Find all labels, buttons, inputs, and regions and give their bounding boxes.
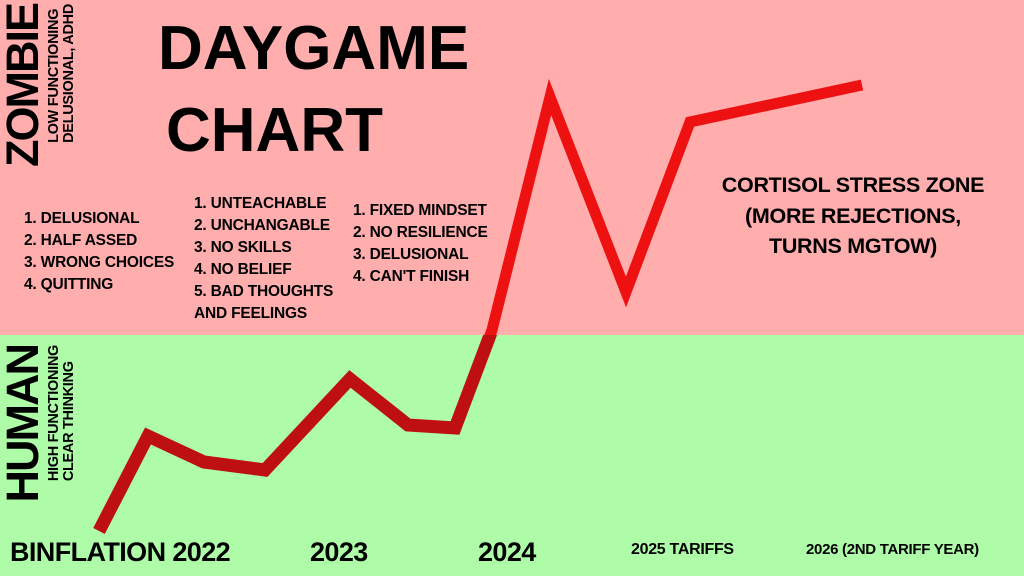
symptom-a-item: 3. WRONG CHOICES <box>24 252 174 274</box>
callout-line-1: CORTISOL STRESS ZONE <box>688 170 1018 201</box>
symptom-c-item: 3. DELUSIONAL <box>353 244 488 266</box>
symptom-list-column-a: 1. DELUSIONAL2. HALF ASSED3. WRONG CHOIC… <box>24 208 174 296</box>
symptom-c-item: 4. CAN'T FINISH <box>353 266 488 288</box>
symptom-b-item: 5. BAD THOUGHTS <box>194 281 333 303</box>
symptom-list-column-b: 1. UNTEACHABLE2. UNCHANGABLE3. NO SKILLS… <box>194 193 333 325</box>
human-sublabel-2: CLEAR THINKING <box>62 345 77 481</box>
symptom-a-item: 4. QUITTING <box>24 274 174 296</box>
symptom-b-item: 3. NO SKILLS <box>194 237 333 259</box>
x-axis-label-2025: 2025 TARIFFS <box>631 541 734 559</box>
x-axis-label-2022: BINFLATION 2022 <box>10 537 230 568</box>
symptom-c-item: 1. FIXED MINDSET <box>353 200 488 222</box>
page-title: DAYGAME CHART <box>158 8 469 172</box>
symptom-b-item: 1. UNTEACHABLE <box>194 193 333 215</box>
x-axis-label-2024: 2024 <box>478 537 536 568</box>
symptom-b-item: 4. NO BELIEF <box>194 259 333 281</box>
zombie-zone-label: ZOMBIE LOW FUNCTIONING DELUSIONAL, ADHD <box>2 4 77 174</box>
symptom-b-item: 2. UNCHANGABLE <box>194 215 333 237</box>
zombie-label-text: ZOMBIE <box>2 4 45 167</box>
symptom-a-item: 2. HALF ASSED <box>24 230 174 252</box>
human-label-text: HUMAN <box>2 345 45 502</box>
x-axis-label-2023: 2023 <box>310 537 368 568</box>
symptom-c-item: 2. NO RESILIENCE <box>353 222 488 244</box>
title-line-1: DAYGAME <box>158 8 469 90</box>
human-zone-label: HUMAN HIGH FUNCTIONING CLEAR THINKING <box>2 345 77 535</box>
symptom-a-item: 1. DELUSIONAL <box>24 208 174 230</box>
zombie-sublabel-1: LOW FUNCTIONING <box>47 4 62 143</box>
zombie-sublabels: LOW FUNCTIONING DELUSIONAL, ADHD <box>46 4 77 143</box>
cortisol-stress-zone-callout: CORTISOL STRESS ZONE (MORE REJECTIONS, T… <box>688 170 1018 262</box>
x-axis-label-2026: 2026 (2ND TARIFF YEAR) <box>806 541 979 558</box>
title-line-2: CHART <box>158 90 469 172</box>
symptom-list-column-c: 1. FIXED MINDSET2. NO RESILIENCE3. DELUS… <box>353 200 488 288</box>
symptom-b-item: AND FEELINGS <box>194 303 333 325</box>
callout-line-3: TURNS MGTOW) <box>688 231 1018 262</box>
zombie-sublabel-2: DELUSIONAL, ADHD <box>62 4 77 143</box>
callout-line-2: (MORE REJECTIONS, <box>688 201 1018 232</box>
human-sublabels: HIGH FUNCTIONING CLEAR THINKING <box>46 345 77 481</box>
human-sublabel-1: HIGH FUNCTIONING <box>47 345 62 481</box>
daygame-chart-canvas: ZOMBIE LOW FUNCTIONING DELUSIONAL, ADHD … <box>0 0 1024 576</box>
